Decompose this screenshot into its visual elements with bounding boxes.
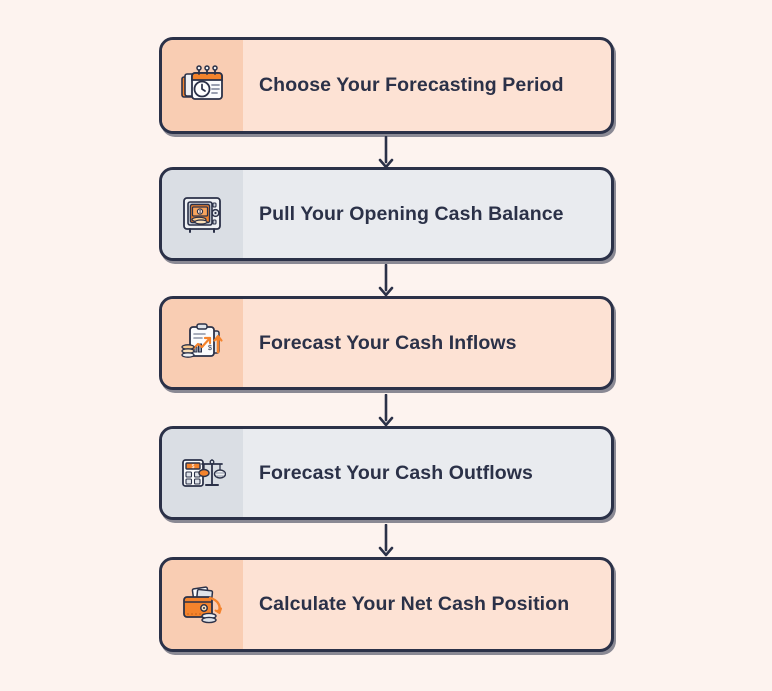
flow-step-5-label: Calculate Your Net Cash Position <box>243 560 611 649</box>
wallet-coins-icon <box>180 584 226 626</box>
calculator-scale-icon: $ <box>180 452 226 494</box>
flowchart: Choose Your Forecasting Period <box>0 0 772 691</box>
flow-step-1-icon-panel <box>162 40 243 131</box>
arrow-down-icon <box>378 394 394 428</box>
connector-arrow-1 <box>378 136 394 170</box>
svg-text:$: $ <box>208 345 212 352</box>
arrow-down-icon <box>378 136 394 170</box>
flow-step-2-icon-panel: $ <box>162 170 243 258</box>
flow-step-4-icon-panel: $ <box>162 429 243 517</box>
flow-step-3-icon-panel: $ <box>162 299 243 387</box>
flow-step-1-label: Choose Your Forecasting Period <box>243 40 611 131</box>
connector-arrow-2 <box>378 264 394 298</box>
flow-step-4[interactable]: $ <box>159 426 614 520</box>
safe-vault-icon: $ <box>180 193 226 235</box>
connector-arrow-4 <box>378 524 394 558</box>
arrow-down-icon <box>378 264 394 298</box>
flow-step-1[interactable]: Choose Your Forecasting Period <box>159 37 614 134</box>
svg-text:$: $ <box>191 464 194 470</box>
arrow-down-icon <box>378 524 394 558</box>
clipboard-growth-chart-icon: $ <box>180 322 226 364</box>
flow-step-5[interactable]: Calculate Your Net Cash Position <box>159 557 614 652</box>
flow-step-5-icon-panel <box>162 560 243 649</box>
flow-step-4-label: Forecast Your Cash Outflows <box>243 429 611 517</box>
connector-arrow-3 <box>378 394 394 428</box>
flow-step-2[interactable]: $ Pull Your Opening Cash Balance <box>159 167 614 261</box>
calendar-clock-icon <box>180 65 226 107</box>
flow-step-2-label: Pull Your Opening Cash Balance <box>243 170 611 258</box>
flow-step-3[interactable]: $ Forecast Your Cash Inflows <box>159 296 614 390</box>
flow-step-3-label: Forecast Your Cash Inflows <box>243 299 611 387</box>
